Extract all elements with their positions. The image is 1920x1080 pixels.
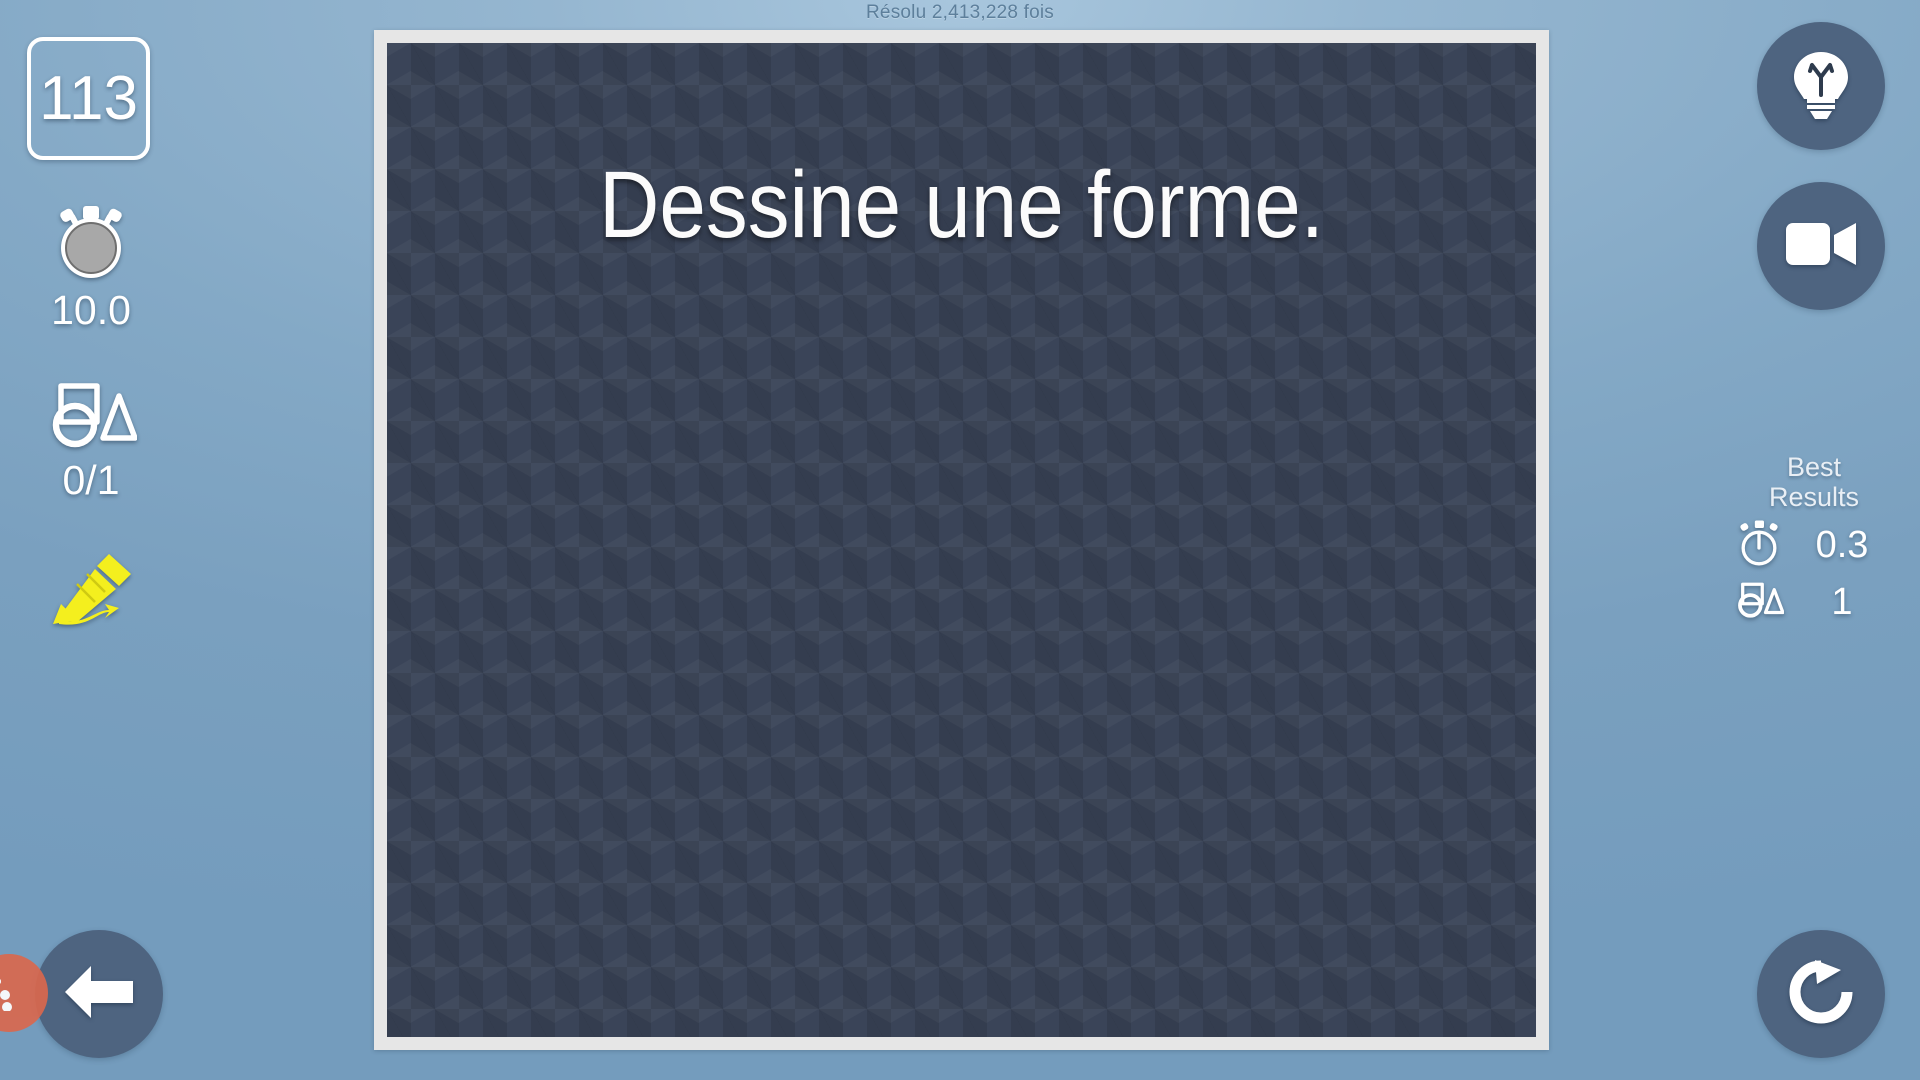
back-button[interactable]	[35, 930, 163, 1058]
best-time-row: 0.3	[1726, 518, 1902, 573]
video-camera-icon	[1784, 219, 1858, 274]
shapes-count-value: 0/1	[0, 457, 182, 504]
solved-count-label: Résolu 2,413,228 fois	[0, 2, 1920, 24]
puzzle-prompt-text: Dessine une forme.	[456, 158, 1467, 253]
stopwatch-icon	[1734, 518, 1784, 573]
pencil-icon	[43, 613, 139, 630]
video-record-button[interactable]	[1757, 182, 1885, 310]
refresh-icon	[1785, 956, 1857, 1033]
best-results-title-line2: Results	[1726, 482, 1902, 512]
shapes-icon	[45, 437, 137, 454]
level-badge: 113	[27, 37, 150, 160]
shapes-stat: 0/1	[0, 380, 182, 504]
best-time-value: 0.3	[1800, 524, 1884, 567]
drawing-canvas[interactable]: Dessine une forme.	[387, 43, 1536, 1037]
shapes-icon	[1734, 579, 1784, 626]
stopwatch-icon	[47, 267, 135, 284]
gamepad-icon	[0, 971, 37, 1016]
best-results-title-line1: Best	[1726, 452, 1902, 482]
best-results-panel: Best Results 0.3	[1726, 452, 1902, 626]
arrow-left-icon	[61, 961, 137, 1028]
canvas-frame: Dessine une forme.	[374, 30, 1549, 1050]
left-hud: 113 10.0	[0, 0, 182, 1080]
hint-button[interactable]	[1757, 22, 1885, 150]
active-tool-indicator[interactable]	[0, 548, 182, 631]
timer-stat: 10.0	[0, 196, 182, 334]
restart-button[interactable]	[1757, 930, 1885, 1058]
best-shapes-value: 1	[1800, 581, 1884, 624]
lightbulb-icon	[1790, 49, 1852, 124]
best-shapes-row: 1	[1726, 579, 1902, 626]
timer-value: 10.0	[0, 287, 182, 334]
